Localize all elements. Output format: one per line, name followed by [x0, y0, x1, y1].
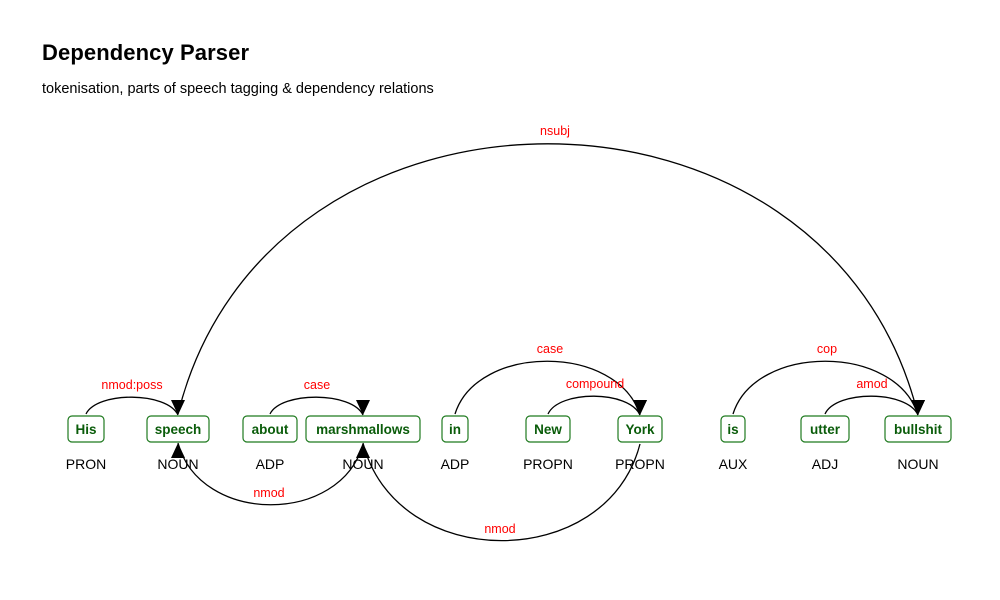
- token-label: is: [727, 422, 738, 437]
- token-is[interactable]: is: [721, 416, 745, 442]
- arrowhead-icon: [356, 400, 370, 415]
- dep-arc-nmod-poss: [86, 397, 178, 415]
- dep-arc-nsubj: [178, 144, 918, 415]
- dep-label-cop: cop: [817, 342, 837, 356]
- token-label: York: [625, 422, 655, 437]
- dep-label-nmod: nmod: [484, 522, 515, 536]
- token-label: His: [75, 422, 96, 437]
- dep-label-case: case: [537, 342, 563, 356]
- token-label: speech: [155, 422, 202, 437]
- token-marshmallows[interactable]: marshmallows: [306, 416, 420, 442]
- token-label: bullshit: [894, 422, 942, 437]
- token-label: in: [449, 422, 461, 437]
- pos-tag-pron: PRON: [66, 456, 106, 472]
- dep-label-nmod-poss: nmod:poss: [101, 378, 162, 392]
- token-utter[interactable]: utter: [801, 416, 849, 442]
- token-in[interactable]: in: [442, 416, 468, 442]
- token-york[interactable]: York: [618, 416, 662, 442]
- pos-tag-adp: ADP: [256, 456, 285, 472]
- dep-label-nsubj: nsubj: [540, 124, 570, 138]
- arrowhead-icon: [171, 400, 185, 415]
- token-new[interactable]: New: [526, 416, 570, 442]
- token-his[interactable]: His: [68, 416, 104, 442]
- pos-tag-noun: NOUN: [157, 456, 198, 472]
- pos-tag-adp: ADP: [441, 456, 470, 472]
- dep-label-case: case: [304, 378, 330, 392]
- token-speech[interactable]: speech: [147, 416, 209, 442]
- dependency-labels-layer: nsubjnmod:posscasecasecompoundcopamodnmo…: [101, 124, 887, 536]
- token-boxes-layer: HisPRONspeechNOUNaboutADPmarshmallowsNOU…: [66, 416, 951, 472]
- pos-tag-propn: PROPN: [615, 456, 665, 472]
- dep-arc-case: [270, 397, 363, 415]
- dep-arc-cop: [733, 361, 918, 415]
- pos-tag-propn: PROPN: [523, 456, 573, 472]
- dependency-arcs-layer: [86, 144, 925, 541]
- token-label: utter: [810, 422, 841, 437]
- dep-label-amod: amod: [856, 377, 887, 391]
- token-bullshit[interactable]: bullshit: [885, 416, 951, 442]
- dep-label-nmod: nmod: [253, 486, 284, 500]
- pos-tag-adj: ADJ: [812, 456, 838, 472]
- pos-tag-noun: NOUN: [342, 456, 383, 472]
- pos-tag-noun: NOUN: [897, 456, 938, 472]
- token-label: marshmallows: [316, 422, 410, 437]
- dep-arc-amod: [825, 396, 918, 415]
- pos-tag-aux: AUX: [719, 456, 748, 472]
- dependency-parse-diagram: HisPRONspeechNOUNaboutADPmarshmallowsNOU…: [0, 0, 1000, 600]
- dep-label-compound: compound: [566, 377, 624, 391]
- token-label: about: [252, 422, 289, 437]
- token-label: New: [534, 422, 562, 437]
- token-about[interactable]: about: [243, 416, 297, 442]
- dep-arc-compound: [548, 396, 640, 415]
